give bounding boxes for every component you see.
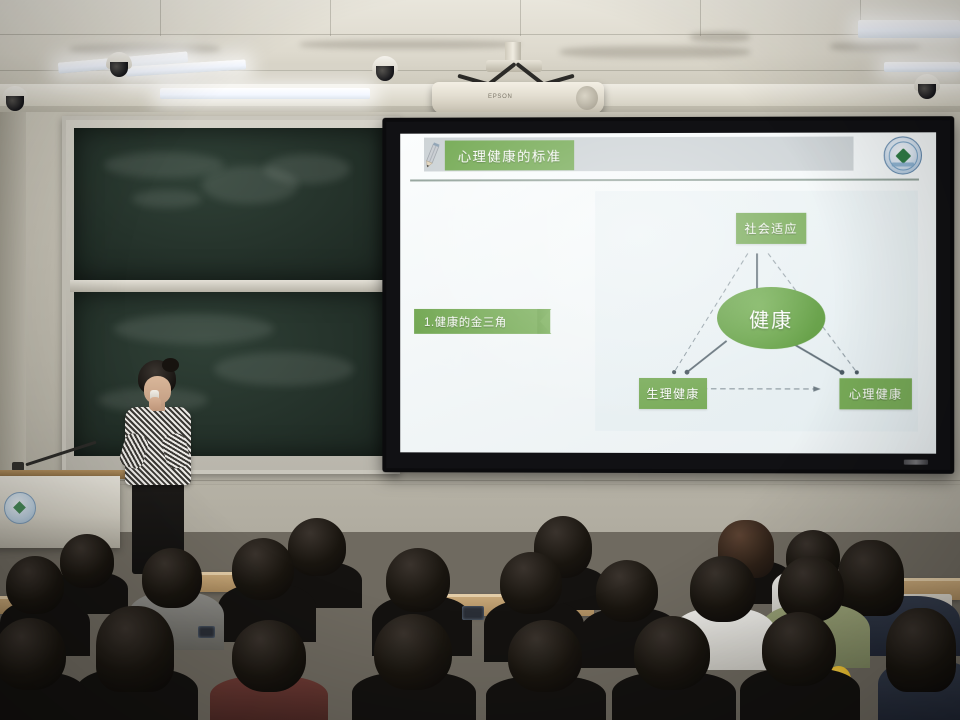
lecture-hall-photo: EPSON — [0, 0, 960, 720]
projector-brand-label: EPSON — [488, 94, 513, 100]
presenter — [112, 360, 198, 576]
slide-title: 心理健康的标准 — [445, 140, 575, 170]
student-head — [634, 616, 710, 690]
pencil-icon — [422, 142, 442, 170]
presenter-hair-bun — [162, 358, 179, 372]
student-head — [500, 552, 562, 614]
diagram-node-health-center: 健康 — [717, 287, 825, 349]
student-head — [386, 548, 450, 612]
presenter-hand — [149, 397, 161, 411]
blackboard-panel-upper — [74, 128, 384, 280]
student-head — [508, 620, 582, 692]
presentation-slide: 心理健康的标准 1.健康的金三角 — [400, 132, 936, 453]
ceiling-light-far-right — [884, 62, 960, 72]
blackboard-divider — [70, 280, 388, 292]
display-bezel: 心理健康的标准 1.健康的金三角 — [386, 120, 950, 470]
ceiling-light-right — [858, 20, 960, 38]
student-head — [60, 534, 114, 588]
ceiling-projector: EPSON — [432, 82, 604, 114]
header-rule — [410, 179, 919, 182]
student-head — [596, 560, 658, 622]
projection-display[interactable]: 心理健康的标准 1.健康的金三角 — [382, 116, 954, 474]
health-triangle-diagram: 社会适应 健康 生理健康 心理健康 — [595, 191, 918, 432]
diagram-card: 社会适应 健康 生理健康 心理健康 — [595, 191, 918, 432]
student-head — [886, 608, 956, 692]
diagram-node-physical-health: 生理健康 — [639, 378, 707, 409]
student-head — [762, 612, 836, 686]
student-head — [778, 556, 844, 622]
student-head — [838, 540, 904, 616]
student-head — [0, 618, 66, 690]
diagram-node-mental-health: 心理健康 — [839, 378, 911, 409]
student-head — [288, 518, 346, 576]
student-head — [6, 556, 64, 614]
student-head — [374, 614, 452, 690]
student-head — [96, 606, 174, 692]
projector-lens — [576, 86, 598, 110]
student-head — [232, 620, 306, 692]
slide-header: 心理健康的标准 — [400, 132, 936, 180]
handheld-phone — [198, 626, 215, 638]
section-banner: 1.健康的金三角 — [414, 309, 550, 334]
student-head — [232, 538, 294, 600]
display-brand-logo — [904, 460, 928, 465]
handheld-tablet — [462, 606, 484, 620]
university-seal-icon — [884, 136, 922, 174]
student-head — [142, 548, 202, 608]
student-head — [690, 556, 756, 622]
diagram-node-social-adaptation: 社会适应 — [736, 213, 806, 244]
ceiling-light-strip — [160, 88, 370, 99]
podium-emblem-icon — [4, 492, 36, 524]
